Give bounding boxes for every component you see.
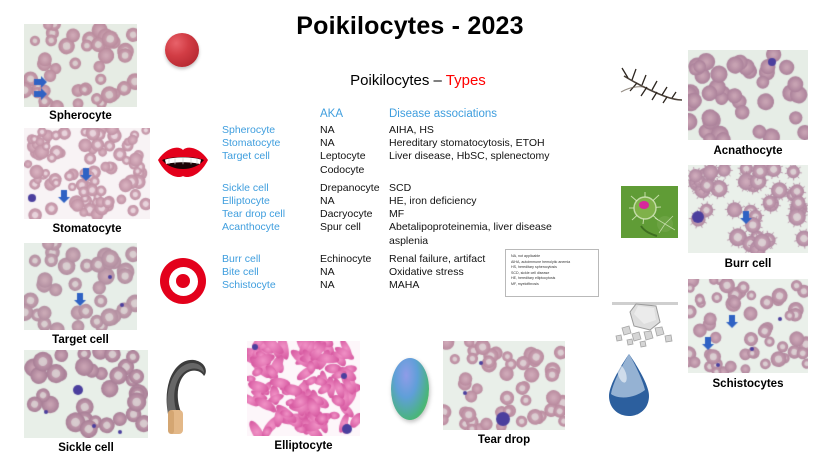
cell-aka	[320, 235, 389, 248]
cell-disease: Liver disease, HbSC, splenectomy	[389, 150, 719, 163]
header-aka: AKA	[320, 108, 389, 124]
section-subtitle: Poikilocytes – Types	[218, 72, 618, 89]
cell-name: Bite cell	[222, 266, 320, 279]
cell-disease: Hereditary stomatocytosis, ETOH	[389, 137, 719, 150]
cell-aka: Dacryocyte	[320, 208, 389, 221]
colored-ellipse-icon	[391, 358, 429, 420]
cell-name: Tear drop cell	[222, 208, 320, 221]
subtitle-lead: Poikilocytes –	[350, 72, 446, 89]
cell-aka: NA	[320, 137, 389, 150]
water-droplet-icon	[605, 352, 653, 418]
cell-name: Sickle cell	[222, 182, 320, 195]
cell-aka: NA	[320, 279, 389, 292]
header-disease: Disease associations	[389, 108, 719, 124]
smear-target-cell	[24, 243, 137, 330]
table-row: SpherocyteNAAIHA, HS	[222, 124, 719, 137]
smear-schistocytes	[688, 279, 808, 373]
cell-aka: NA	[320, 195, 389, 208]
cell-aka: Echinocyte	[320, 253, 389, 266]
caption-acanthocyte: Acnathocyte	[678, 145, 818, 157]
cell-aka: Leptocyte	[320, 150, 389, 163]
table-row: SchistocyteNAMAHA	[222, 279, 719, 292]
cell-name	[222, 235, 320, 248]
cell-name: Schistocyte	[222, 279, 320, 292]
table-row: Codocyte	[222, 164, 719, 177]
smear-elliptocyte	[247, 341, 360, 436]
caption-sickle-cell: Sickle cell	[14, 442, 158, 454]
cell-aka: Drepanocyte	[320, 182, 389, 195]
table-header-row: AKA Disease associations	[222, 108, 719, 124]
smear-sickle-cell	[24, 350, 148, 438]
table-row: Target cellLeptocyteLiver disease, HbSC,…	[222, 150, 719, 163]
cell-name: Stomatocyte	[222, 137, 320, 150]
smear-tear-drop	[443, 341, 565, 430]
legend-item: MF, myelofibrosis	[511, 282, 598, 288]
bullseye-target-icon	[160, 258, 206, 304]
broken-glass-icon	[610, 298, 680, 348]
cell-name: Burr cell	[222, 253, 320, 266]
cell-aka: Spur cell	[320, 221, 389, 234]
red-sphere-icon	[165, 33, 199, 67]
cell-aka: Codocyte	[320, 164, 389, 177]
caption-schistocytes: Schistocytes	[678, 378, 818, 390]
smear-acanthocyte	[688, 50, 808, 140]
lips-mouth-icon	[156, 145, 210, 179]
header-name	[222, 108, 320, 124]
caption-target-cell: Target cell	[14, 334, 147, 346]
caption-spherocyte: Spherocyte	[14, 110, 147, 122]
cell-name: Target cell	[222, 150, 320, 163]
subtitle-highlight: Types	[446, 72, 486, 89]
smear-burr-cell	[688, 165, 808, 253]
cell-name: Spherocyte	[222, 124, 320, 137]
smear-spherocyte	[24, 24, 137, 107]
caption-burr-cell: Burr cell	[678, 258, 818, 270]
cell-name	[222, 164, 320, 177]
smear-stomatocyte	[24, 128, 150, 219]
abbreviation-legend: NA, not applicableAIHA, autoimmune hemol…	[505, 249, 599, 297]
sickle-blade-icon	[160, 352, 212, 436]
cell-aka: NA	[320, 266, 389, 279]
cell-disease	[389, 164, 719, 177]
cell-name: Elliptocyte	[222, 195, 320, 208]
thorny-branch-icon	[618, 62, 684, 108]
caption-tear-drop: Tear drop	[433, 434, 575, 446]
table-row: StomatocyteNAHereditary stomatocytosis, …	[222, 137, 719, 150]
caption-stomatocyte: Stomatocyte	[14, 223, 160, 235]
cell-aka: NA	[320, 124, 389, 137]
caption-elliptocyte: Elliptocyte	[237, 440, 370, 452]
cell-disease: AIHA, HS	[389, 124, 719, 137]
burr-plant-icon	[621, 186, 678, 238]
table-row: Burr cellEchinocyteRenal failure, artifa…	[222, 253, 719, 266]
cell-name: Acanthocyte	[222, 221, 320, 234]
table-row: Bite cellNAOxidative stress	[222, 266, 719, 279]
